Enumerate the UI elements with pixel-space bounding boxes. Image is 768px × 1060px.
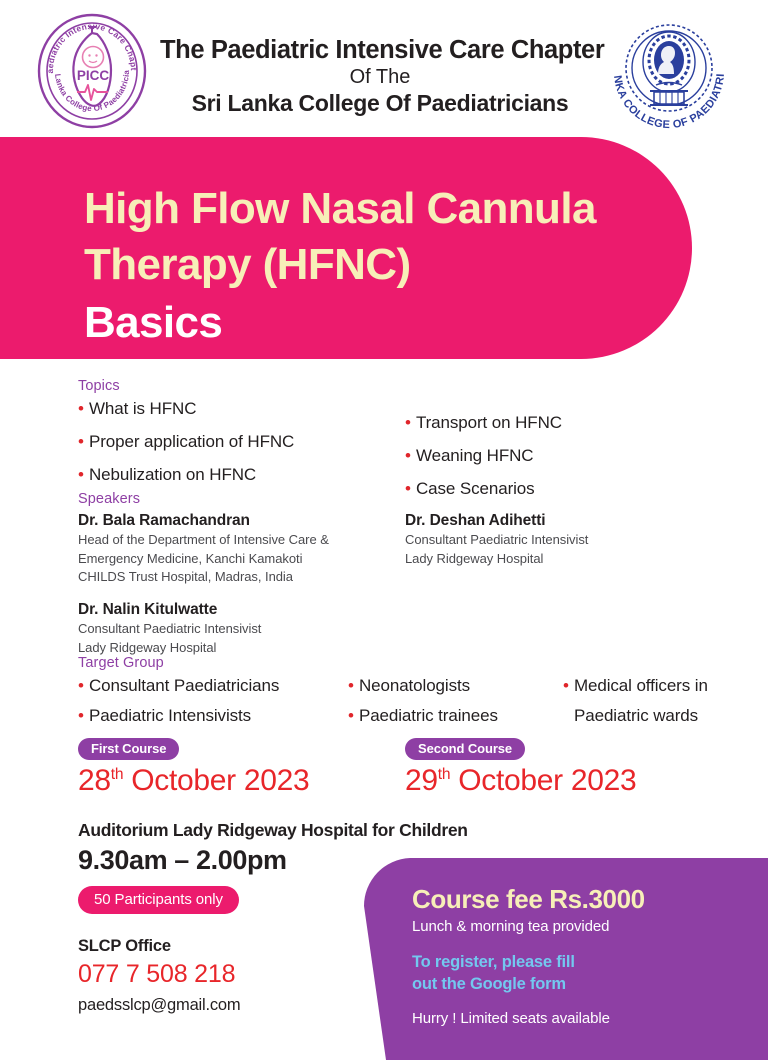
hurry-notice: Hurry ! Limited seats available [412,1009,752,1029]
topics-heading: Topics [78,378,698,394]
banner-title-line-2: Therapy (HFNC) [84,237,684,293]
topic-label: Proper application of HFNC [89,430,294,454]
first-course-day: 28 [78,764,111,797]
topic-label: Weaning HFNC [416,444,534,468]
list-item: • Weaning HFNC [405,444,685,468]
speaker-name: Dr. Nalin Kitulwatte [78,600,405,620]
register-line-2: out the Google form [412,974,752,995]
second-course-month-year: October 2023 [450,764,636,797]
topic-label: Transport on HFNC [416,411,562,435]
bullet-icon: • [405,444,411,468]
first-course-ordinal: th [111,766,123,783]
second-course-block: Second Course 29th October 2023 [405,738,685,798]
target-column-b: • Neonatologists • Paediatric trainees [348,674,563,734]
speaker-name: Dr. Deshan Adihetti [405,511,685,531]
header-line-2: Of The [160,65,600,90]
speakers-column-left: Dr. Bala Ramachandran Head of the Depart… [78,511,405,657]
bullet-icon: • [348,704,354,728]
speaker-affiliation-line: Emergency Medicine, Kanchi Kamakoti [78,550,405,568]
bullet-icon: • [78,463,84,487]
list-item: • What is HFNC [78,397,405,421]
speaker-entry: Dr. Bala Ramachandran Head of the Depart… [78,511,405,587]
svg-text:PICC: PICC [77,68,110,83]
contact-office-label: SLCP Office [78,936,378,957]
list-item: • Paediatric trainees [348,704,563,728]
header-line-3: Sri Lanka College Of Paediatricians [160,90,600,118]
fee-subtitle: Lunch & morning tea provided [412,917,752,937]
bullet-icon: • [78,397,84,421]
header-line-1: The Paediatric Intensive Care Chapter [160,36,600,65]
course-dates-section: First Course 28th October 2023 Second Co… [78,738,698,798]
topic-label: What is HFNC [89,397,196,421]
first-course-month-year: October 2023 [123,764,309,797]
speaker-affiliation-line: Head of the Department of Intensive Care… [78,531,405,549]
second-course-ordinal: th [438,766,450,783]
list-item: • Nebulization on HFNC [78,463,405,487]
bullet-icon: • [405,411,411,435]
speaker-affiliation-line: CHILDS Trust Hospital, Madras, India [78,568,405,586]
bullet-icon: • [78,704,84,728]
speaker-entry: Dr. Nalin Kitulwatte Consultant Paediatr… [78,600,405,657]
list-item: • Neonatologists [348,674,563,698]
bullet-icon: • [563,674,569,698]
speaker-name: Dr. Bala Ramachandran [78,511,405,531]
first-course-badge: First Course [78,738,179,760]
register-instruction: To register, please fill out the Google … [412,952,752,995]
register-line-1: To register, please fill [412,952,752,973]
list-item: • Paediatric Intensivists [78,704,348,728]
second-course-date: 29th October 2023 [405,764,685,798]
poster-header: Paediatric Intensive Care Chapter Sri La… [0,0,768,135]
target-label: Paediatric trainees [359,704,498,728]
speaker-entry: Dr. Deshan Adihetti Consultant Paediatri… [405,511,685,568]
speaker-affiliation-line: Consultant Paediatric Intensivist [78,620,405,638]
banner-title-line-3: Basics [84,294,684,351]
second-course-badge: Second Course [405,738,525,760]
target-label: Consultant Paediatricians [89,674,279,698]
bullet-icon: • [78,674,84,698]
banner-title-line-1: High Flow Nasal Cannula [84,181,684,237]
participants-badge: 50 Participants only [78,886,239,914]
bullet-icon: • [78,430,84,454]
fee-title: Course fee Rs.3000 [412,884,752,915]
picc-logo: Paediatric Intensive Care Chapter Sri La… [32,12,152,130]
contact-email[interactable]: paedsslcp@gmail.com [78,994,378,1016]
target-label: Paediatric Intensivists [89,704,251,728]
contact-section: SLCP Office 077 7 508 218 paedsslcp@gmai… [78,936,378,1016]
fee-panel-text: Course fee Rs.3000 Lunch & morning tea p… [412,884,752,1029]
list-item: • Medical officers in [563,674,738,698]
first-course-date: 28th October 2023 [78,764,405,798]
topic-label: Nebulization on HFNC [89,463,256,487]
title-banner-text: High Flow Nasal Cannula Therapy (HFNC) B… [84,181,684,351]
target-column-a: • Consultant Paediatricians • Paediatric… [78,674,348,734]
speakers-heading: Speakers [78,491,698,507]
speakers-section: Speakers Dr. Bala Ramachandran Head of t… [78,491,698,657]
slcp-logo: SRI LANKA COLLEGE OF PAEDIATRICIANS [604,12,734,132]
first-course-block: First Course 28th October 2023 [78,738,405,798]
target-label: Neonatologists [359,674,470,698]
target-group-heading: Target Group [78,655,738,671]
bullet-icon: • [348,674,354,698]
target-label: Medical officers in [574,674,708,698]
list-item: • Proper application of HFNC [78,430,405,454]
target-column-c: • Medical officers in Paediatric wards [563,674,738,734]
header-title-block: The Paediatric Intensive Care Chapter Of… [160,36,600,117]
course-fee-panel: Course fee Rs.3000 Lunch & morning tea p… [364,858,768,1060]
target-group-section: Target Group • Consultant Paediatricians… [78,655,738,734]
contact-phone[interactable]: 077 7 508 218 [78,958,378,991]
title-banner: High Flow Nasal Cannula Therapy (HFNC) B… [0,137,692,359]
speaker-affiliation-line: Consultant Paediatric Intensivist [405,531,685,549]
speakers-column-right: Dr. Deshan Adihetti Consultant Paediatri… [405,511,685,657]
target-label-continued: Paediatric wards [563,704,738,728]
second-course-day: 29 [405,764,438,797]
venue-place: Auditorium Lady Ridgeway Hospital for Ch… [78,820,478,842]
speaker-affiliation-line: Lady Ridgeway Hospital [405,550,685,568]
list-item: • Transport on HFNC [405,411,685,435]
list-item: • Consultant Paediatricians [78,674,348,698]
